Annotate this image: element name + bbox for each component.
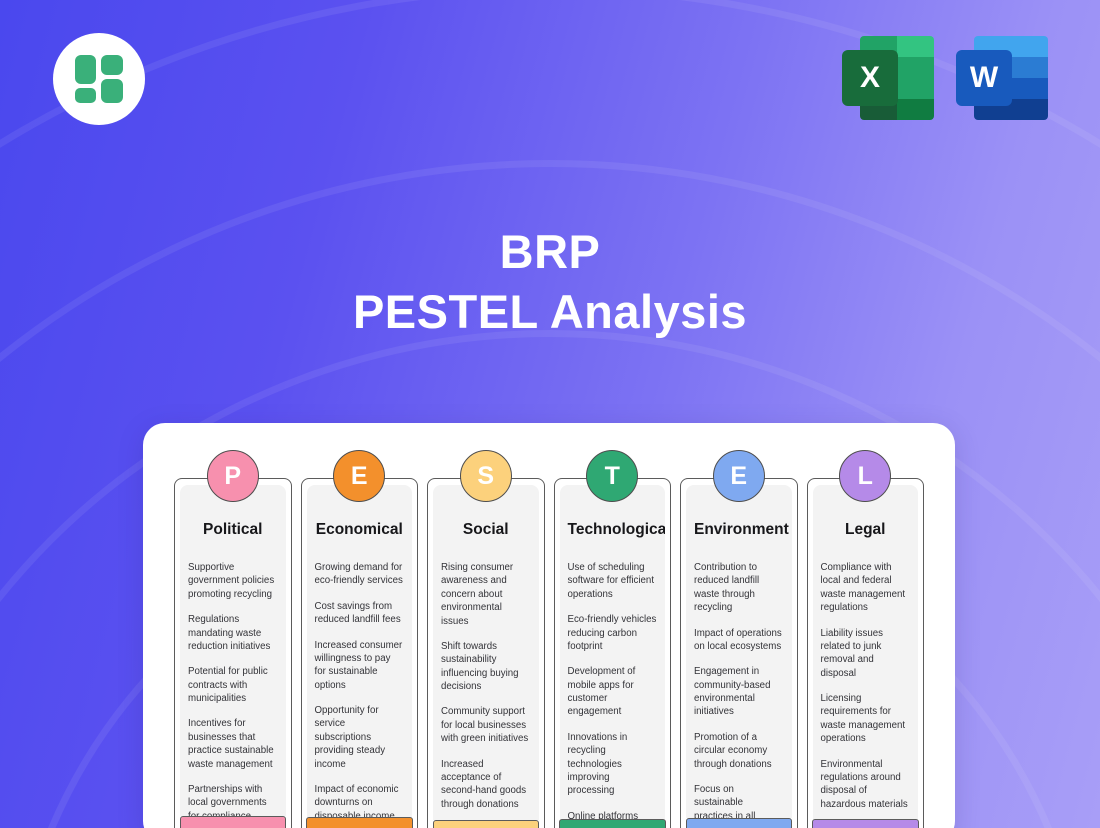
word-badge: W: [956, 50, 1012, 106]
list-item: Cost savings from reduced landfill fees: [315, 600, 405, 627]
brand-logo[interactable]: [53, 33, 145, 125]
card-body: SocialRising consumer awareness and conc…: [433, 485, 539, 820]
pestel-card[interactable]: PPoliticalSupportive government policies…: [174, 478, 292, 828]
list-item: Development of mobile apps for customer …: [568, 665, 658, 719]
card-title: Legal: [821, 521, 911, 539]
list-item: Shift towards sustainability influencing…: [441, 640, 531, 694]
list-item: Increased consumer willingness to pay fo…: [315, 639, 405, 693]
card-body: EconomicalGrowing demand for eco-friendl…: [307, 485, 413, 817]
grid-tile-c: [75, 88, 96, 103]
letter-badge: P: [207, 450, 259, 502]
list-item: Promotion of a circular economy through …: [694, 731, 784, 771]
card-points: Growing demand for eco-friendly services…: [315, 561, 405, 817]
list-item: Growing demand for eco-friendly services: [315, 561, 405, 588]
card-title: Economical: [315, 521, 405, 539]
list-item: Regulations mandating waste reduction in…: [188, 613, 278, 653]
list-item: Innovations in recycling technologies im…: [568, 731, 658, 798]
list-item: Engagement in community-based environmen…: [694, 665, 784, 719]
card-points: Rising consumer awareness and concern ab…: [441, 561, 531, 820]
card-body: EnvironmentContribution to reduced landf…: [686, 485, 792, 818]
word-icon[interactable]: W: [956, 30, 1048, 120]
pestel-panel: PPoliticalSupportive government policies…: [143, 423, 955, 828]
card-points: Contribution to reduced landfill waste t…: [694, 561, 784, 818]
pestel-columns: PPoliticalSupportive government policies…: [174, 478, 924, 828]
export-icons: X W: [842, 30, 1048, 120]
grid-tile-b: [101, 55, 123, 75]
card-title: Technological: [568, 521, 658, 539]
card-points: Use of scheduling software for efficient…: [568, 561, 658, 819]
card-body: LegalCompliance with local and federal w…: [813, 485, 919, 819]
list-item: Community support for local businesses w…: [441, 705, 531, 745]
title-line-2: PESTEL Analysis: [0, 282, 1100, 342]
list-item: Potential for public contracts with muni…: [188, 665, 278, 705]
app-grid-icon: [75, 55, 123, 103]
title-line-1: BRP: [0, 222, 1100, 282]
list-item: Liability issues related to junk removal…: [821, 627, 911, 681]
list-item: Partnerships with local governments for …: [188, 783, 278, 817]
card-points: Supportive government policies promoting…: [188, 561, 278, 816]
list-item: Opportunity for service subscriptions pr…: [315, 704, 405, 771]
card-body: TechnologicalUse of scheduling software …: [560, 485, 666, 819]
card-title: Social: [441, 521, 531, 539]
letter-badge: E: [713, 450, 765, 502]
letter-badge: T: [586, 450, 638, 502]
card-color-bar: [306, 817, 413, 828]
word-letter: W: [970, 61, 998, 95]
list-item: Compliance with local and federal waste …: [821, 561, 911, 615]
list-item: Environmental regulations around disposa…: [821, 758, 911, 812]
card-color-bar: [812, 819, 919, 828]
card-color-bar: [433, 820, 540, 828]
list-item: Incentives for businesses that practice …: [188, 717, 278, 771]
excel-icon[interactable]: X: [842, 30, 934, 120]
page-title: BRP PESTEL Analysis: [0, 222, 1100, 342]
list-item: Focus on sustainable practices in all as…: [694, 783, 784, 818]
list-item: Impact of operations on local ecosystems: [694, 627, 784, 654]
list-item: Licensing requirements for waste managem…: [821, 692, 911, 746]
list-item: Online platforms facilitating easy booki…: [568, 810, 658, 819]
card-color-bar: [559, 819, 666, 828]
list-item: Eco-friendly vehicles reducing carbon fo…: [568, 613, 658, 653]
card-title: Environment: [694, 521, 784, 539]
letter-badge: S: [460, 450, 512, 502]
list-item: Impact of economic downturns on disposab…: [315, 783, 405, 817]
excel-letter: X: [860, 61, 880, 95]
card-color-bar: [180, 816, 287, 828]
list-item: Rising consumer awareness and concern ab…: [441, 561, 531, 628]
grid-tile-d: [101, 79, 123, 103]
list-item: Use of scheduling software for efficient…: [568, 561, 658, 601]
pestel-card[interactable]: TTechnologicalUse of scheduling software…: [554, 478, 672, 828]
card-color-bar: [686, 818, 793, 828]
list-item: Contribution to reduced landfill waste t…: [694, 561, 784, 615]
slide-canvas: X W BRP PESTEL Analysis PPoliticalSuppor…: [0, 0, 1100, 828]
card-points: Compliance with local and federal waste …: [821, 561, 911, 819]
letter-badge: E: [333, 450, 385, 502]
card-body: PoliticalSupportive government policies …: [180, 485, 286, 816]
pestel-card[interactable]: LLegalCompliance with local and federal …: [807, 478, 925, 828]
letter-badge: L: [839, 450, 891, 502]
pestel-card[interactable]: EEnvironmentContribution to reduced land…: [680, 478, 798, 828]
pestel-card[interactable]: SSocialRising consumer awareness and con…: [427, 478, 545, 828]
list-item: Increased acceptance of second-hand good…: [441, 758, 531, 812]
excel-badge: X: [842, 50, 898, 106]
grid-tile-a: [75, 55, 96, 84]
pestel-card[interactable]: EEconomicalGrowing demand for eco-friend…: [301, 478, 419, 828]
card-title: Political: [188, 521, 278, 539]
list-item: Supportive government policies promoting…: [188, 561, 278, 601]
